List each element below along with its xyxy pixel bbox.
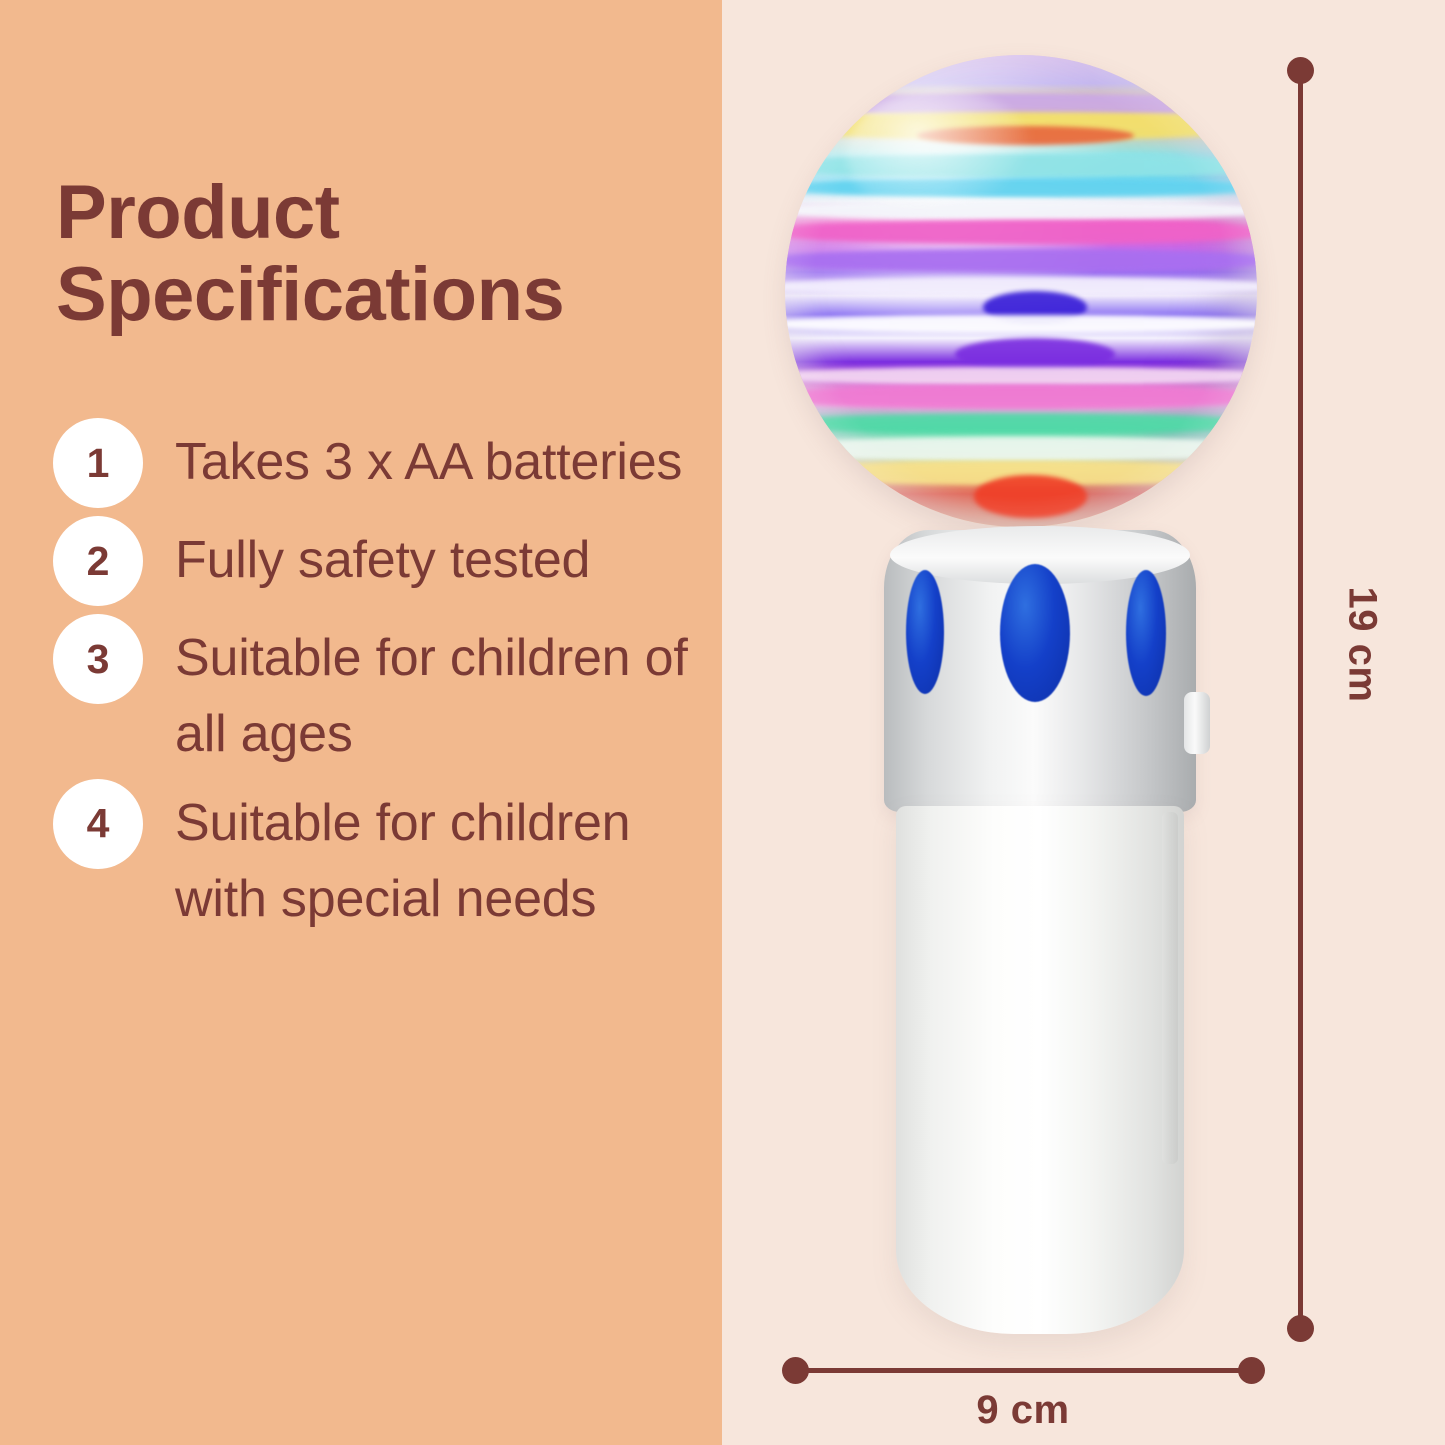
- list-item: 3 Suitable for children of all ages: [53, 614, 713, 773]
- page-title: Product Specifications: [56, 172, 716, 336]
- width-dimension-line: [795, 1368, 1251, 1373]
- height-dimension-label: 19 cm: [1340, 565, 1385, 725]
- height-dimension-dot-bottom: [1287, 1315, 1314, 1342]
- spec-list: 1 Takes 3 x AA batteries 2 Fully safety …: [53, 418, 713, 944]
- spec-number-badge: 1: [53, 418, 143, 508]
- spec-number-badge: 2: [53, 516, 143, 606]
- list-item: 2 Fully safety tested: [53, 516, 713, 608]
- spec-text: Suitable for children with special needs: [175, 779, 713, 938]
- spec-number-badge: 4: [53, 779, 143, 869]
- infographic-canvas: Product Specifications 1 Takes 3 x AA ba…: [0, 0, 1445, 1445]
- list-item: 4 Suitable for children with special nee…: [53, 779, 713, 938]
- spec-text: Suitable for children of all ages: [175, 614, 713, 773]
- spec-text: Takes 3 x AA batteries: [175, 418, 713, 500]
- height-dimension-line: [1298, 70, 1303, 1329]
- spec-text: Fully safety tested: [175, 516, 713, 598]
- list-item: 1 Takes 3 x AA batteries: [53, 418, 713, 510]
- width-dimension-label: 9 cm: [795, 1388, 1251, 1433]
- right-panel: [722, 0, 1445, 1445]
- width-dimension-dot-right: [1238, 1357, 1265, 1384]
- spec-number-badge: 3: [53, 614, 143, 704]
